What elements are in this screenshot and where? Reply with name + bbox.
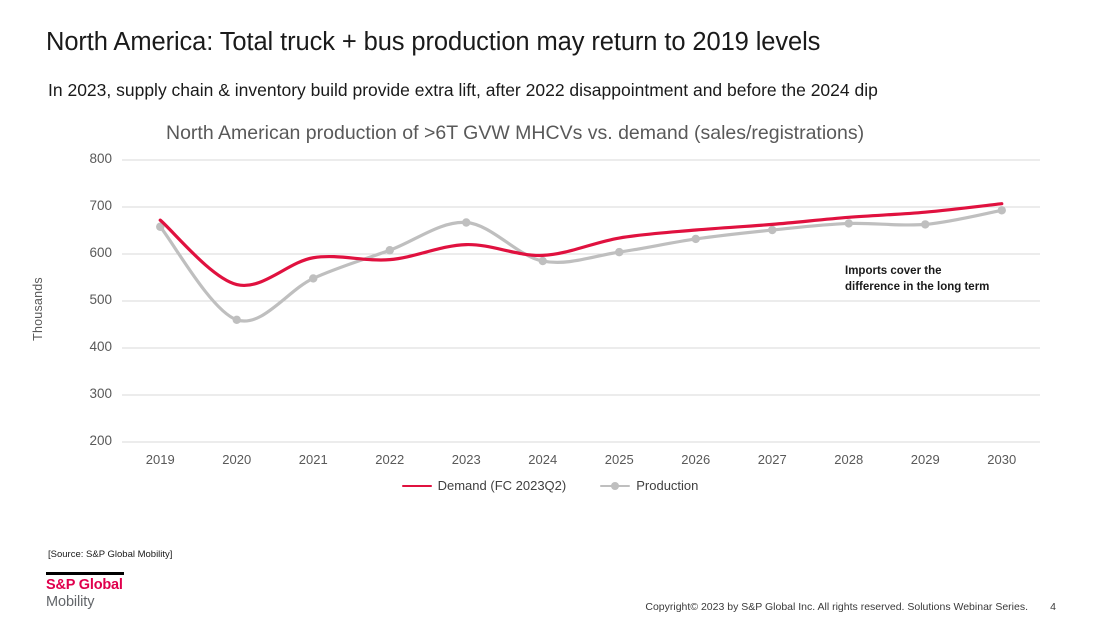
x-axis-tick: 2026 — [659, 452, 733, 467]
copyright-text: Copyright© 2023 by S&P Global Inc. All r… — [645, 601, 1028, 613]
x-axis-tick: 2025 — [582, 452, 656, 467]
page-number: 4 — [1050, 601, 1056, 613]
page-title: North America: Total truck + bus product… — [46, 28, 820, 57]
y-axis-tick: 400 — [66, 339, 112, 354]
legend-swatch-icon — [600, 479, 630, 493]
logo-secondary-text: Mobility — [46, 594, 166, 611]
sp-global-mobility-logo: S&P Global Mobility — [46, 572, 166, 610]
x-axis-tick: 2023 — [429, 452, 503, 467]
data-point-marker — [845, 219, 853, 227]
legend-label: Demand (FC 2023Q2) — [438, 478, 567, 493]
x-axis-tick: 2024 — [506, 452, 580, 467]
chart-legend: Demand (FC 2023Q2)Production — [0, 478, 1100, 493]
x-axis-tick: 2020 — [200, 452, 274, 467]
x-axis-tick: 2021 — [276, 452, 350, 467]
legend-swatch-icon — [402, 479, 432, 493]
x-axis-tick: 2029 — [888, 452, 962, 467]
legend-label: Production — [636, 478, 698, 493]
x-axis-tick: 2022 — [353, 452, 427, 467]
annotation-line-2: difference in the long term — [845, 280, 989, 296]
data-point-marker — [386, 246, 394, 254]
annotation-line-1: Imports cover the — [845, 264, 989, 280]
y-axis-tick: 500 — [66, 292, 112, 307]
data-point-marker — [233, 316, 241, 324]
data-point-marker — [692, 235, 700, 243]
y-axis-tick: 300 — [66, 386, 112, 401]
data-point-marker — [539, 257, 547, 265]
y-axis-tick: 800 — [66, 151, 112, 166]
legend-item[interactable]: Demand (FC 2023Q2) — [402, 478, 567, 493]
data-point-marker — [998, 206, 1006, 214]
data-point-marker — [921, 220, 929, 228]
logo-rule — [46, 572, 124, 575]
chart-annotation: Imports cover the difference in the long… — [845, 264, 989, 295]
x-axis-tick: 2028 — [812, 452, 886, 467]
y-axis-tick: 700 — [66, 198, 112, 213]
y-axis-tick: 600 — [66, 245, 112, 260]
data-point-marker — [462, 218, 470, 226]
chart-container: North American production of >6T GVW MHC… — [0, 112, 1100, 512]
x-axis-tick: 2027 — [735, 452, 809, 467]
data-point-marker — [768, 226, 776, 234]
data-point-marker — [615, 248, 623, 256]
page-subtitle: In 2023, supply chain & inventory build … — [48, 80, 878, 101]
plot-area: Thousands 200300400500600700800201920202… — [0, 112, 1100, 512]
y-axis-tick: 200 — [66, 433, 112, 448]
data-point-marker — [309, 274, 317, 282]
logo-primary-text: S&P Global — [46, 578, 166, 594]
x-axis-tick: 2019 — [123, 452, 197, 467]
x-axis-tick: 2030 — [965, 452, 1039, 467]
legend-item[interactable]: Production — [600, 478, 698, 493]
source-note: [Source: S&P Global Mobility] — [48, 549, 172, 560]
